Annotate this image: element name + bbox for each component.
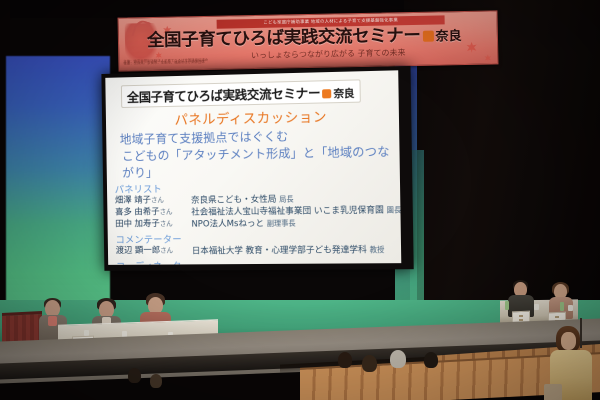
person-role: 副理事長 bbox=[267, 219, 296, 228]
person-affiliation: 日本福祉大学 教育・心理学部子ども発達学科 教授 bbox=[192, 244, 385, 257]
banner-region-text: 奈良 bbox=[435, 29, 461, 44]
audience-head bbox=[390, 350, 406, 368]
audience-head bbox=[150, 374, 162, 388]
person-name: 喜多 由希子さん bbox=[115, 207, 191, 220]
person-name: 田中 加寿子さん bbox=[115, 219, 191, 232]
person-name: 渡辺 顕一郎さん bbox=[116, 246, 192, 258]
head bbox=[561, 332, 576, 350]
person-affiliation: 社会福祉法人宝山寺福祉事業団 いこま乳児保育園 園長 bbox=[191, 204, 401, 218]
person-role: 局長 bbox=[279, 194, 294, 203]
slide-title: 全国子育てひろば実践交流セミナー奈良 bbox=[121, 79, 361, 108]
projection-screen-frame: 全国子育てひろば実践交流セミナー奈良 パネルディスカッション 地域子育て支援拠点… bbox=[101, 66, 413, 271]
orange-square-logo-icon bbox=[422, 31, 433, 42]
overhead-banner: こども家庭庁補助事業 地域の人材による子育て支援基盤強化事業 全国子育てひろば実… bbox=[118, 10, 499, 71]
person-name: 畑澤 靖子さん bbox=[115, 195, 191, 208]
stage-backdrop-gradient-left bbox=[6, 56, 110, 328]
panelist-person bbox=[508, 282, 534, 314]
bottle bbox=[560, 302, 564, 311]
cup bbox=[534, 304, 539, 310]
person-role: 教授 bbox=[370, 245, 385, 254]
cup bbox=[568, 305, 573, 311]
bottle bbox=[505, 301, 509, 310]
audience-head bbox=[424, 352, 438, 368]
projection-screen: 全国子育てひろば実践交流セミナー奈良 パネルディスカッション 地域子育て支援拠点… bbox=[105, 70, 401, 265]
slide-title-region: 奈良 bbox=[333, 88, 354, 101]
audience-head bbox=[338, 352, 352, 368]
person-affiliation: NPO法人Msねっと 副理事長 bbox=[191, 218, 295, 231]
slide-person-row: 田中 加寿子さん NPO法人Msねっと 副理事長 bbox=[115, 217, 392, 232]
slide-person-row: 渡辺 顕一郎さん 日本福祉大学 教育・心理学部子ども発達学科 教授 bbox=[116, 244, 393, 258]
slide-section-label: コーディネーター bbox=[116, 257, 393, 265]
audience-head bbox=[128, 368, 141, 383]
slide-title-text: 全国子育てひろば実践交流セミナー bbox=[127, 85, 321, 105]
photo-scene: こども家庭庁補助事業 地域の人材による子育て支援基盤強化事業 全国子育てひろば実… bbox=[0, 0, 600, 400]
person-role: 園長 bbox=[387, 205, 402, 214]
attendee-standing bbox=[548, 326, 594, 400]
bag bbox=[544, 384, 562, 400]
audience-head bbox=[362, 355, 377, 372]
scarf bbox=[48, 316, 57, 326]
maple-leaf-icon bbox=[484, 54, 491, 61]
orange-square-logo-icon bbox=[322, 89, 331, 98]
slide-subtitle-line2: こどもの「アタッチメント形成」と「地域のつながり」 bbox=[122, 142, 392, 180]
